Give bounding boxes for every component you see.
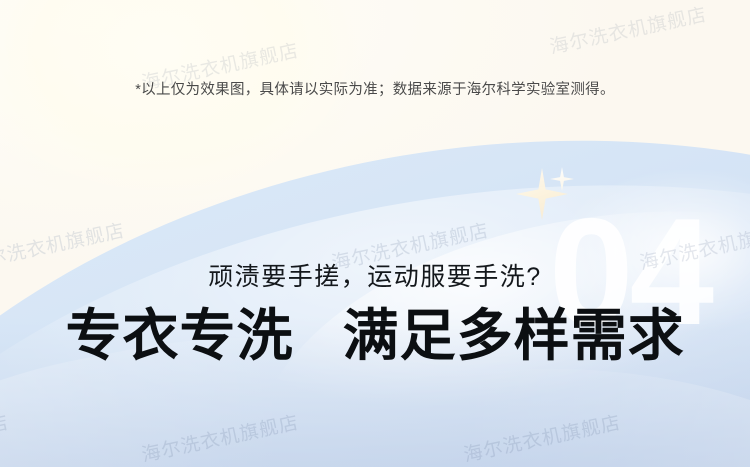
disclaimer-note: *以上仅为效果图，具体请以实际为准；数据来源于海尔科学实验室测得。 [0, 78, 750, 99]
headline-block: 顽渍要手搓，运动服要手洗? 专衣专洗 满足多样需求 [0, 262, 750, 368]
headline-title-part-2: 满足多样需求 [343, 304, 685, 367]
headline-title: 专衣专洗 满足多样需求 [0, 305, 750, 368]
headline-title-part-1: 专衣专洗 [65, 304, 293, 367]
promo-banner: 04 海尔洗衣机旗舰店 海尔洗衣机旗舰店 海尔洗衣机旗舰店 海尔洗衣机旗舰店 海… [0, 0, 750, 467]
headline-subtitle: 顽渍要手搓，运动服要手洗? [0, 262, 750, 293]
